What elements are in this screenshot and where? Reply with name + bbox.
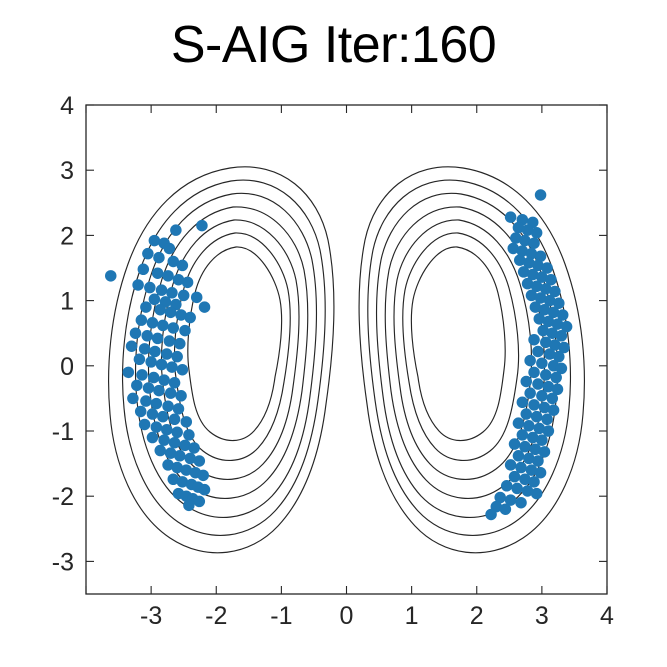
scatter-point bbox=[521, 376, 533, 388]
scatter-point bbox=[550, 372, 562, 384]
scatter-point bbox=[134, 354, 146, 366]
scatter-point bbox=[177, 364, 189, 376]
scatter-point bbox=[161, 424, 173, 436]
x-tick-label: 3 bbox=[535, 602, 549, 630]
scatter-point bbox=[536, 390, 548, 402]
scatter-point bbox=[144, 282, 156, 294]
scatter-point bbox=[152, 267, 164, 279]
scatter-point bbox=[140, 301, 152, 313]
scatter-point bbox=[148, 372, 160, 384]
scatter-point bbox=[152, 333, 164, 345]
scatter-point bbox=[139, 343, 151, 355]
x-tick-label: 4 bbox=[600, 602, 614, 630]
scatter-point bbox=[147, 408, 159, 420]
scatter-point bbox=[142, 248, 154, 260]
scatter-point bbox=[540, 369, 552, 381]
scatter-point bbox=[170, 224, 182, 236]
scatter-point bbox=[188, 442, 200, 454]
scatter-point bbox=[194, 455, 206, 467]
scatter-point bbox=[147, 432, 159, 444]
scatter-point bbox=[531, 227, 543, 239]
x-tick-label: 0 bbox=[340, 602, 354, 630]
scatter-point bbox=[509, 471, 521, 483]
scatter-point bbox=[521, 408, 533, 420]
scatter-point bbox=[169, 377, 181, 389]
scatter-point bbox=[528, 399, 540, 411]
scatter-point bbox=[143, 382, 155, 394]
y-tick-label: 1 bbox=[60, 288, 74, 316]
scatter-point bbox=[138, 264, 150, 276]
scatter-point bbox=[531, 411, 543, 423]
x-tick-label: 2 bbox=[470, 602, 484, 630]
scatter-point bbox=[174, 338, 186, 350]
scatter-point bbox=[531, 488, 543, 500]
x-tick-label: -3 bbox=[140, 602, 162, 630]
scatter-point bbox=[135, 406, 147, 418]
y-tick-label: -3 bbox=[52, 548, 74, 576]
scatter-point bbox=[123, 367, 135, 379]
scatter-point bbox=[547, 393, 559, 405]
scatter-point bbox=[158, 374, 170, 386]
y-tick-label: 2 bbox=[60, 222, 74, 250]
scatter-point bbox=[184, 312, 196, 324]
scatter-point bbox=[161, 348, 173, 360]
scatter-point bbox=[139, 419, 151, 431]
scatter-point bbox=[166, 361, 178, 373]
scatter-point bbox=[524, 387, 536, 399]
scatter-point bbox=[162, 400, 174, 412]
scatter-point bbox=[126, 340, 138, 352]
scatter-point bbox=[136, 314, 148, 326]
scatter-point bbox=[528, 367, 540, 379]
scatter-point bbox=[181, 416, 193, 428]
scatter-point bbox=[509, 438, 521, 450]
scatter-point bbox=[183, 500, 195, 512]
scatter-point bbox=[145, 356, 157, 368]
scatter-point bbox=[178, 290, 190, 302]
scatter-point bbox=[149, 346, 161, 358]
scatter-point bbox=[169, 437, 181, 449]
scatter-point bbox=[156, 284, 168, 296]
scatter-point bbox=[154, 445, 166, 457]
scatter-point bbox=[183, 429, 195, 441]
figure-canvas: S-AIG Iter:160 bbox=[0, 0, 667, 667]
x-tick-label: -1 bbox=[270, 602, 292, 630]
scatter-point bbox=[182, 277, 194, 289]
scatter-point bbox=[165, 387, 177, 399]
scatter-point bbox=[501, 480, 512, 492]
scatter-point bbox=[199, 484, 211, 496]
scatter-point bbox=[168, 322, 180, 334]
x-axis-tick-labels: -3-2-101234 bbox=[140, 602, 614, 630]
scatter-point bbox=[199, 301, 211, 313]
scatter-point bbox=[541, 414, 553, 426]
scatter-point bbox=[153, 252, 165, 264]
scatter-point bbox=[164, 243, 176, 255]
scatter-point bbox=[141, 330, 153, 342]
scatter-point bbox=[515, 497, 527, 509]
scatter-point bbox=[165, 307, 177, 319]
scatter-point bbox=[105, 270, 117, 282]
y-tick-label: -2 bbox=[52, 483, 74, 511]
scatter-point bbox=[524, 355, 536, 367]
scatter-point bbox=[191, 292, 203, 304]
scatter-point bbox=[147, 317, 159, 329]
scatter-point bbox=[164, 335, 176, 347]
scatter-point bbox=[158, 434, 170, 446]
scatter-point bbox=[173, 403, 185, 415]
scatter-point bbox=[174, 450, 186, 462]
scatter-point bbox=[505, 211, 517, 223]
scatter-point bbox=[175, 390, 187, 402]
y-axis-tick-labels: -3-2-101234 bbox=[52, 92, 74, 576]
scatter-point bbox=[513, 417, 525, 429]
scatter-point bbox=[169, 414, 181, 426]
scatter-point bbox=[505, 459, 517, 471]
scatter-point bbox=[140, 395, 152, 407]
scatter-point bbox=[197, 470, 209, 482]
scatter-point bbox=[132, 279, 144, 291]
scatter-point bbox=[154, 304, 166, 316]
scatter-point bbox=[162, 270, 174, 282]
scatter-point bbox=[179, 325, 191, 337]
scatter-point bbox=[517, 397, 529, 409]
scatter-point bbox=[511, 483, 523, 495]
y-tick-label: 4 bbox=[60, 92, 74, 120]
scatter-point bbox=[535, 189, 547, 201]
scatter-point bbox=[131, 380, 143, 392]
scatter-point bbox=[171, 427, 183, 439]
scatter-point bbox=[532, 378, 544, 390]
scatter-point bbox=[171, 351, 183, 363]
scatter-point bbox=[528, 334, 540, 346]
scatter-point bbox=[528, 237, 540, 249]
scatter-point bbox=[151, 421, 163, 433]
scatter-point bbox=[196, 220, 208, 232]
scatter-point bbox=[177, 260, 189, 272]
scatter-point bbox=[485, 509, 497, 521]
scatter-point bbox=[151, 398, 163, 410]
scatter-point bbox=[157, 411, 169, 423]
scatter-point bbox=[130, 327, 142, 339]
scatter-point bbox=[536, 357, 548, 369]
scatter-point bbox=[149, 235, 161, 247]
y-tick-label: 0 bbox=[60, 353, 74, 381]
scatter-point bbox=[513, 450, 525, 462]
y-tick-label: -1 bbox=[52, 418, 74, 446]
scatter-point bbox=[156, 359, 168, 371]
scatter-point bbox=[157, 320, 169, 332]
scatter-point bbox=[149, 294, 161, 306]
scatter-point bbox=[532, 346, 544, 358]
scatter-point bbox=[153, 385, 165, 397]
scatter-point bbox=[500, 503, 512, 515]
scatter-point bbox=[136, 369, 148, 381]
plot-axes: -3-2-101234 -3-2-101234 bbox=[0, 0, 667, 667]
x-tick-label: 1 bbox=[405, 602, 419, 630]
x-tick-label: -2 bbox=[205, 602, 227, 630]
scatter-point bbox=[517, 429, 529, 441]
y-tick-label: 3 bbox=[60, 157, 74, 185]
scatter-point bbox=[127, 393, 139, 405]
scatter-point bbox=[194, 496, 206, 508]
